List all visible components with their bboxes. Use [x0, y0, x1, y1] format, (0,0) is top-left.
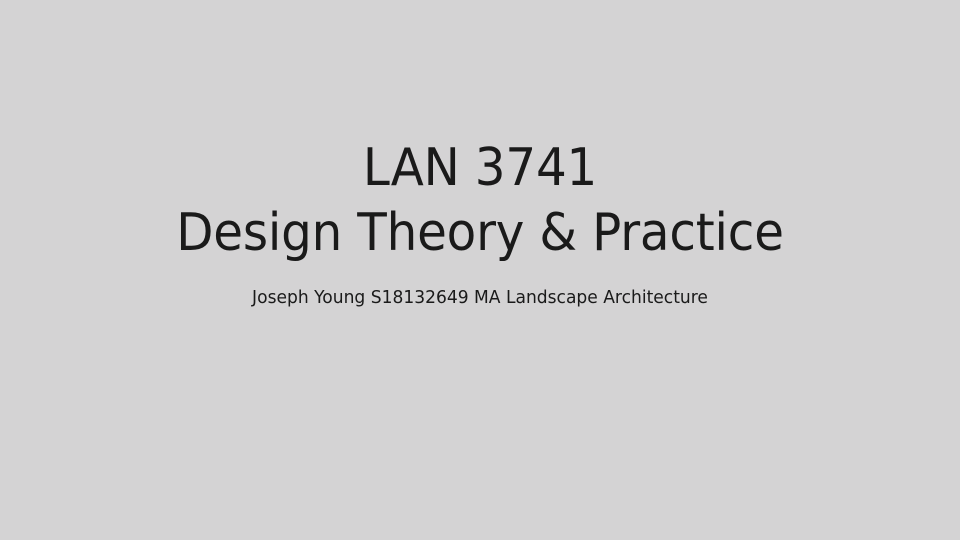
slide-title[interactable]: LAN 3741 Design Theory & Practice [0, 136, 960, 266]
subtitle-line-1: Joseph Young S18132649 MA Landscape Arch… [24, 286, 936, 310]
slide-body-empty-area [0, 330, 960, 540]
title-line-1: LAN 3741 [34, 136, 927, 201]
slide-subtitle[interactable]: Joseph Young S18132649 MA Landscape Arch… [0, 286, 960, 310]
presentation-slide: LAN 3741 Design Theory & Practice Joseph… [0, 0, 960, 540]
title-line-2: Design Theory & Practice [34, 201, 927, 266]
